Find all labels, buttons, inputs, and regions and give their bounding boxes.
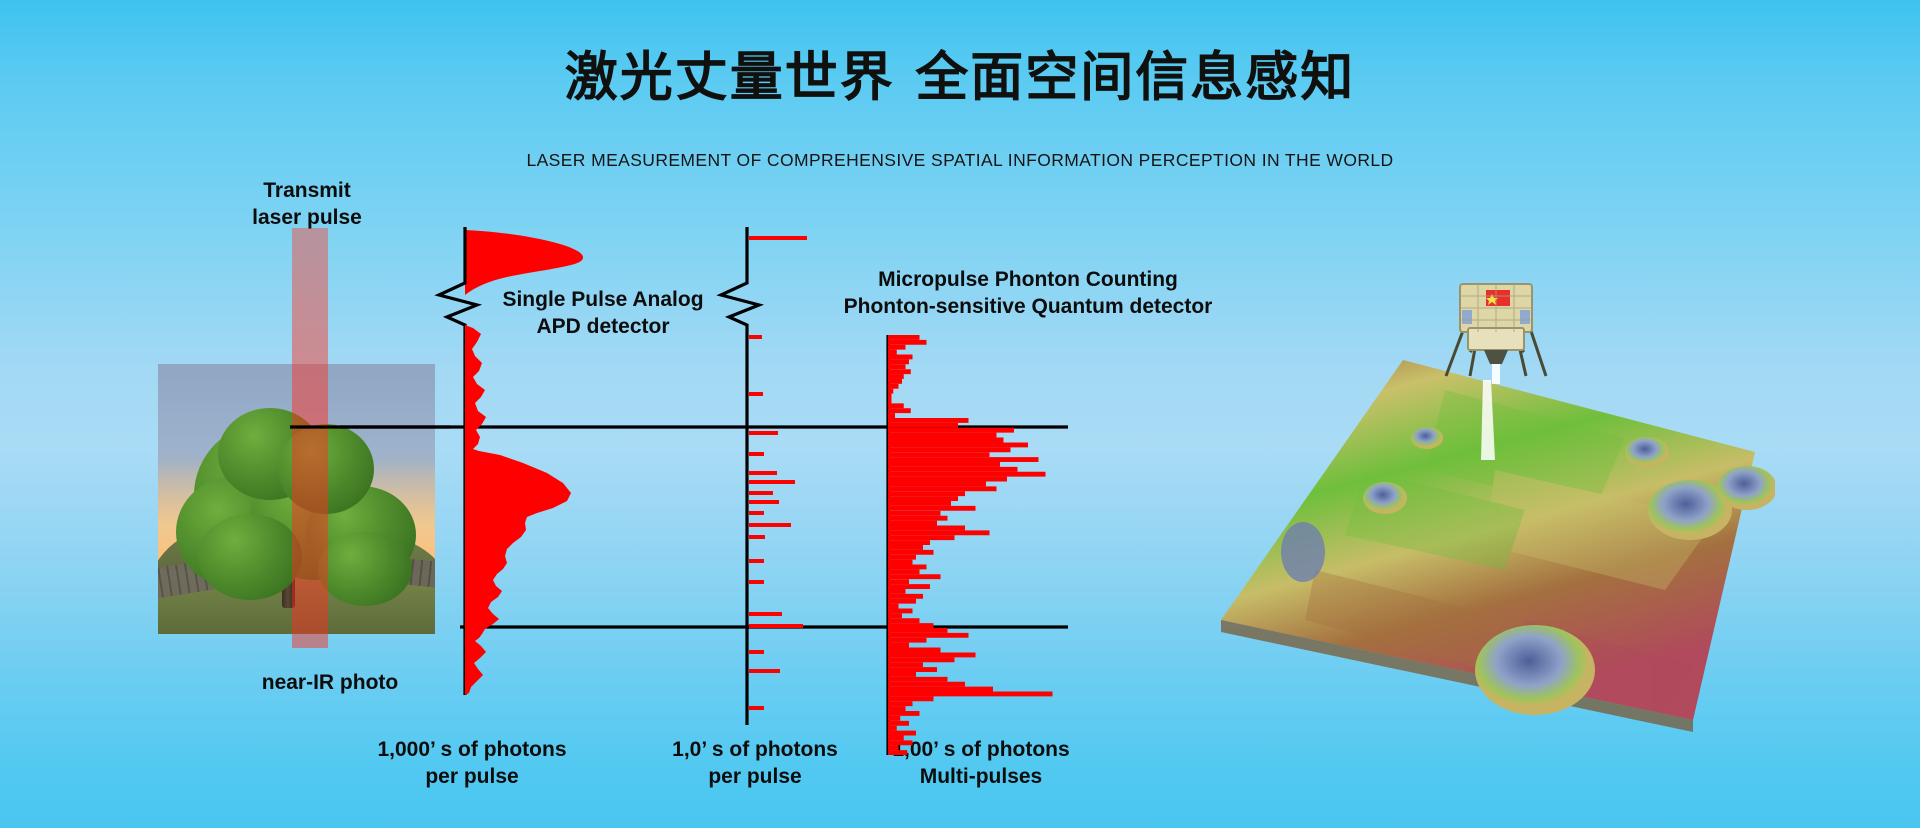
dense-photon-chart xyxy=(878,335,1108,795)
page-subtitle: LASER MEASUREMENT OF COMPREHENSIVE SPATI… xyxy=(0,150,1920,171)
sparse-photon-chart xyxy=(737,225,897,745)
transmit-label: Transmit laser pulse xyxy=(212,178,402,232)
lander-panel xyxy=(1462,310,1472,324)
footer-left-label: 1,000’ s of photons per pulse xyxy=(352,737,592,791)
crater xyxy=(1717,466,1775,510)
analog-waveform-shape xyxy=(465,325,571,695)
lander-panel xyxy=(1520,310,1530,324)
laser-beam xyxy=(292,228,328,648)
crater xyxy=(1281,522,1325,582)
crater xyxy=(1411,427,1443,449)
canopy-gridline-extension xyxy=(290,422,450,432)
crater xyxy=(1363,482,1407,514)
photo-caption: near-IR photo xyxy=(205,670,455,697)
photon-bar-group xyxy=(888,337,1053,752)
lunar-lander xyxy=(1434,276,1558,384)
analog-apd-chart xyxy=(455,225,685,725)
crater xyxy=(1475,625,1595,715)
transmit-pulse-shape xyxy=(465,230,583,295)
footer-mid-label: 1,0’ s of photons per pulse xyxy=(640,737,870,791)
crater xyxy=(1625,437,1669,467)
lander-nozzle xyxy=(1484,350,1508,364)
poster-canvas: 激光丈量世界 全面空间信息感知 LASER MEASUREMENT OF COM… xyxy=(0,0,1920,828)
page-title: 激光丈量世界 全面空间信息感知 xyxy=(0,48,1920,109)
tree-canopy xyxy=(198,514,302,600)
lander-exhaust xyxy=(1492,364,1500,384)
